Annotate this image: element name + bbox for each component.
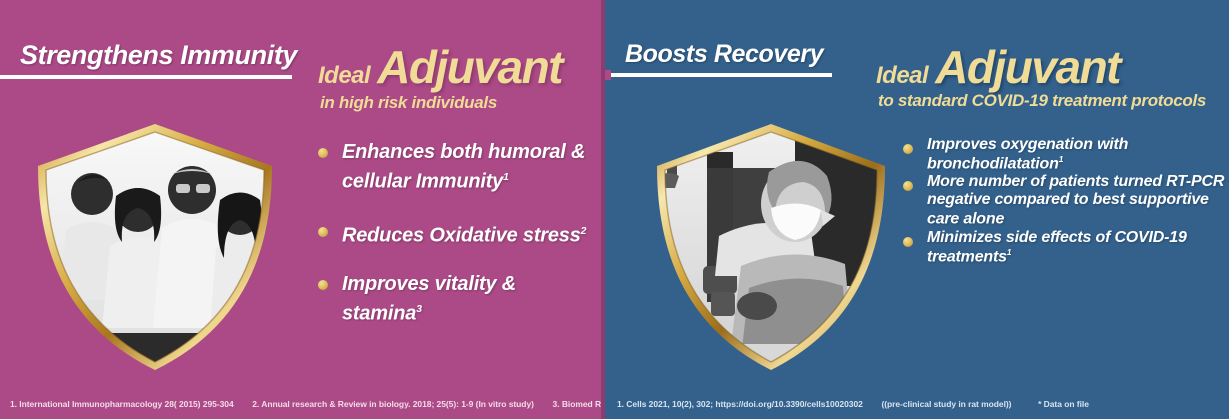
left-references: 1. International Immunopharmacology 28( … xyxy=(10,399,605,409)
right-subtitle: to standard COVID-19 treatment protocols xyxy=(878,91,1206,111)
list-item-ref: 2 xyxy=(581,226,587,237)
list-item-ref: 3 xyxy=(416,304,422,315)
reference-item: 1. Cells 2021, 10(2), 302; https://doi.o… xyxy=(617,399,863,409)
list-item-text: More number of patients turned RT-PCR ne… xyxy=(927,173,1224,227)
left-shield-family-photo xyxy=(26,118,284,376)
left-headline-underline xyxy=(0,75,292,79)
bullet-dot-icon xyxy=(903,237,913,247)
reference-item: ((pre-clinical study in rat model)) xyxy=(881,399,1011,409)
list-item-text: Improves oxygenation with bronchodilatat… xyxy=(927,136,1128,172)
right-headline-underline xyxy=(610,73,832,77)
right-benefits-list: Improves oxygenation with bronchodilatat… xyxy=(895,136,1225,266)
right-adjuvant-word: Adjuvant xyxy=(935,40,1120,94)
list-item-ref: 1 xyxy=(1059,154,1063,164)
bullet-dot-icon xyxy=(318,280,328,290)
left-adjuvant-word: Adjuvant xyxy=(377,40,562,94)
reference-item: 1. International Immunopharmacology 28( … xyxy=(10,399,234,409)
list-item: Improves oxygenation with bronchodilatat… xyxy=(895,136,1225,173)
list-item: Enhances both humoral & cellular Immunit… xyxy=(310,140,590,195)
right-underline-accent xyxy=(605,70,611,80)
right-shield-patient-photo xyxy=(645,116,897,378)
list-item-ref: 1 xyxy=(1007,247,1011,257)
left-benefits-list: Enhances both humoral & cellular Immunit… xyxy=(310,140,590,351)
right-ideal-adjuvant-lockup: IdealAdjuvant xyxy=(876,40,1120,94)
bullet-dot-icon xyxy=(318,148,328,158)
left-panel: Strengthens Immunity IdealAdjuvant in hi… xyxy=(0,0,605,419)
bullet-dot-icon xyxy=(903,181,913,191)
right-references: 1. Cells 2021, 10(2), 302; https://doi.o… xyxy=(617,399,1089,409)
right-ideal-word: Ideal xyxy=(876,62,928,90)
list-item-text: Improves vitality & stamina xyxy=(342,273,516,325)
left-ideal-adjuvant-lockup: IdealAdjuvant xyxy=(318,40,562,94)
reference-item: 3. Biomed Res 2017;28:5241-6. xyxy=(553,399,605,409)
left-ideal-word: Ideal xyxy=(318,62,370,90)
bullet-dot-icon xyxy=(318,227,328,237)
left-subtitle: in high risk individuals xyxy=(320,93,497,113)
reference-item: * Data on file xyxy=(1038,399,1089,409)
bullet-dot-icon xyxy=(903,144,913,154)
list-item-text: Enhances both humoral & cellular Immunit… xyxy=(342,141,585,193)
list-item: More number of patients turned RT-PCR ne… xyxy=(895,173,1225,228)
list-item: Reduces Oxidative stress2 xyxy=(310,219,590,249)
left-headline: Strengthens Immunity xyxy=(20,40,297,71)
list-item-ref: 1 xyxy=(503,172,509,183)
list-item-text: Reduces Oxidative stress xyxy=(342,224,581,246)
advertisement-banner: Strengthens Immunity IdealAdjuvant in hi… xyxy=(0,0,1229,419)
right-headline: Boosts Recovery xyxy=(625,40,823,69)
reference-item: 2. Annual research & Review in biology. … xyxy=(252,399,534,409)
right-panel: Boosts Recovery IdealAdjuvant to standar… xyxy=(605,0,1229,419)
list-item-text: Minimizes side effects of COVID-19 treat… xyxy=(927,229,1187,265)
list-item: Improves vitality & stamina3 xyxy=(310,272,590,327)
list-item: Minimizes side effects of COVID-19 treat… xyxy=(895,229,1225,266)
